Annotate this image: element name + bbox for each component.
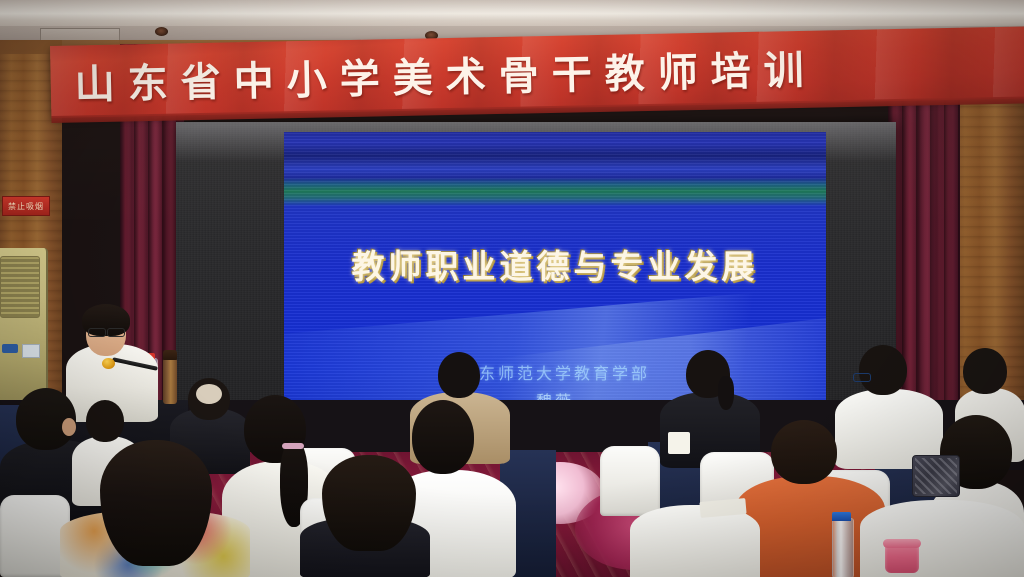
no-smoking-sign: 禁止吸烟 [2,196,50,216]
no-smoking-sign-label: 禁止吸烟 [8,201,44,212]
air-conditioner-tag [22,344,40,358]
presenter-glasses-right [107,328,125,337]
presenter-glasses [88,328,106,337]
attendee-head [86,400,124,442]
conference-room-photo: 禁止吸烟 教师职业道德与专业发展 山东师范大学教育学部 魏薇 山东省中小学美术骨… [0,0,1024,577]
pink-thermos-lid [883,539,921,548]
attendee-head [963,348,1007,394]
hair-tie [282,443,304,449]
handbag-monogram-pattern [915,458,957,494]
microphone-head-icon [102,358,115,369]
floor-air-conditioner [0,248,48,408]
attendee-white-top-front-center [630,505,760,577]
pink-thermos-cup [885,543,919,573]
water-bottle-front-right [832,518,854,577]
attendee-glasses [853,373,871,382]
attendee-hair-bun [196,384,222,404]
air-conditioner-badge [2,344,18,353]
handbag [912,455,960,497]
attendee-long-hair-front [60,440,250,577]
attendee-long-hair [322,455,416,551]
attendee-head [859,345,907,395]
downlight-1-icon [155,27,168,36]
paper-sheet-right [668,432,690,454]
attendee-ponytail [718,376,734,410]
attendee-dark-hair-front-right [300,455,430,577]
attendee-head [771,420,837,484]
attendee-body [630,505,760,577]
attendee-long-hair [100,440,212,566]
air-conditioner-grille [0,256,40,318]
attendee-head [438,352,480,398]
slide-title: 教师职业道德与专业发展 [284,240,826,288]
water-bottle-cap-front-right [832,512,851,521]
